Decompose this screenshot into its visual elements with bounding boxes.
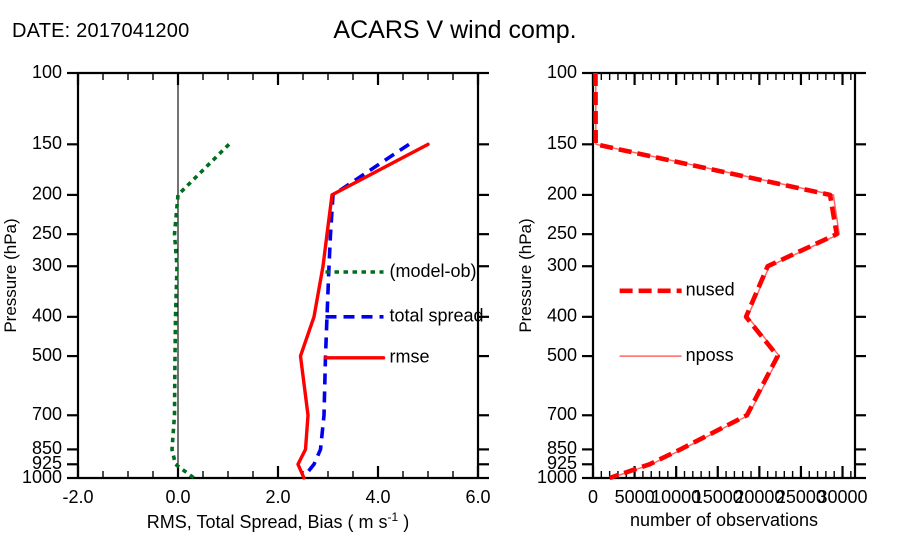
y-tick-label: 200 bbox=[32, 184, 62, 204]
y-axis-title: Pressure (hPa) bbox=[516, 218, 535, 332]
x-tick-label: 2.0 bbox=[265, 487, 290, 507]
y-tick-label: 250 bbox=[32, 223, 62, 243]
y-tick-label: 1000 bbox=[22, 467, 62, 487]
y-tick-label: 150 bbox=[547, 133, 577, 153]
y-tick-label: 100 bbox=[547, 62, 577, 82]
right-panel-svg: 0500010000150002000025000300001001502002… bbox=[480, 0, 900, 560]
legend-label: total spread bbox=[390, 306, 484, 326]
legend-label: rmse bbox=[390, 347, 430, 367]
legend-label: nposs bbox=[686, 345, 734, 365]
series-line-model-ob bbox=[172, 144, 229, 478]
y-tick-label: 700 bbox=[547, 404, 577, 424]
x-tick-label: 5000 bbox=[615, 487, 655, 507]
series-line-nposs bbox=[596, 73, 839, 478]
y-axis-title: Pressure (hPa) bbox=[1, 218, 20, 332]
x-tick-label: 0.0 bbox=[165, 487, 190, 507]
y-tick-label: 700 bbox=[32, 404, 62, 424]
y-tick-label: 300 bbox=[547, 255, 577, 275]
legend-label: nused bbox=[686, 280, 735, 300]
y-tick-label: 150 bbox=[32, 133, 62, 153]
x-tick-label: 30000 bbox=[817, 487, 867, 507]
y-tick-label: 500 bbox=[547, 345, 577, 365]
y-tick-label: 1000 bbox=[537, 467, 577, 487]
series-line-nused bbox=[595, 73, 836, 478]
y-tick-label: 500 bbox=[32, 345, 62, 365]
y-tick-label: 250 bbox=[547, 223, 577, 243]
x-tick-label: 0 bbox=[588, 487, 598, 507]
y-tick-label: 400 bbox=[32, 306, 62, 326]
x-axis-title: number of observations bbox=[630, 510, 818, 530]
x-tick-label: -2.0 bbox=[62, 487, 93, 507]
left-panel: -2.00.02.04.06.0100150200250300400500700… bbox=[0, 0, 500, 560]
left-panel-svg: -2.00.02.04.06.0100150200250300400500700… bbox=[0, 0, 500, 560]
y-tick-label: 300 bbox=[32, 255, 62, 275]
legend-label: (model-ob) bbox=[390, 261, 477, 281]
right-panel: 0500010000150002000025000300001001502002… bbox=[480, 0, 900, 560]
x-tick-label: 4.0 bbox=[365, 487, 390, 507]
y-tick-label: 400 bbox=[547, 306, 577, 326]
y-tick-label: 100 bbox=[32, 62, 62, 82]
x-axis-title: RMS, Total Spread, Bias ( m s-1 ) bbox=[147, 510, 409, 532]
y-tick-label: 200 bbox=[547, 184, 577, 204]
plot-page: DATE: 2017041200 ACARS V wind comp. -2.0… bbox=[0, 0, 900, 560]
